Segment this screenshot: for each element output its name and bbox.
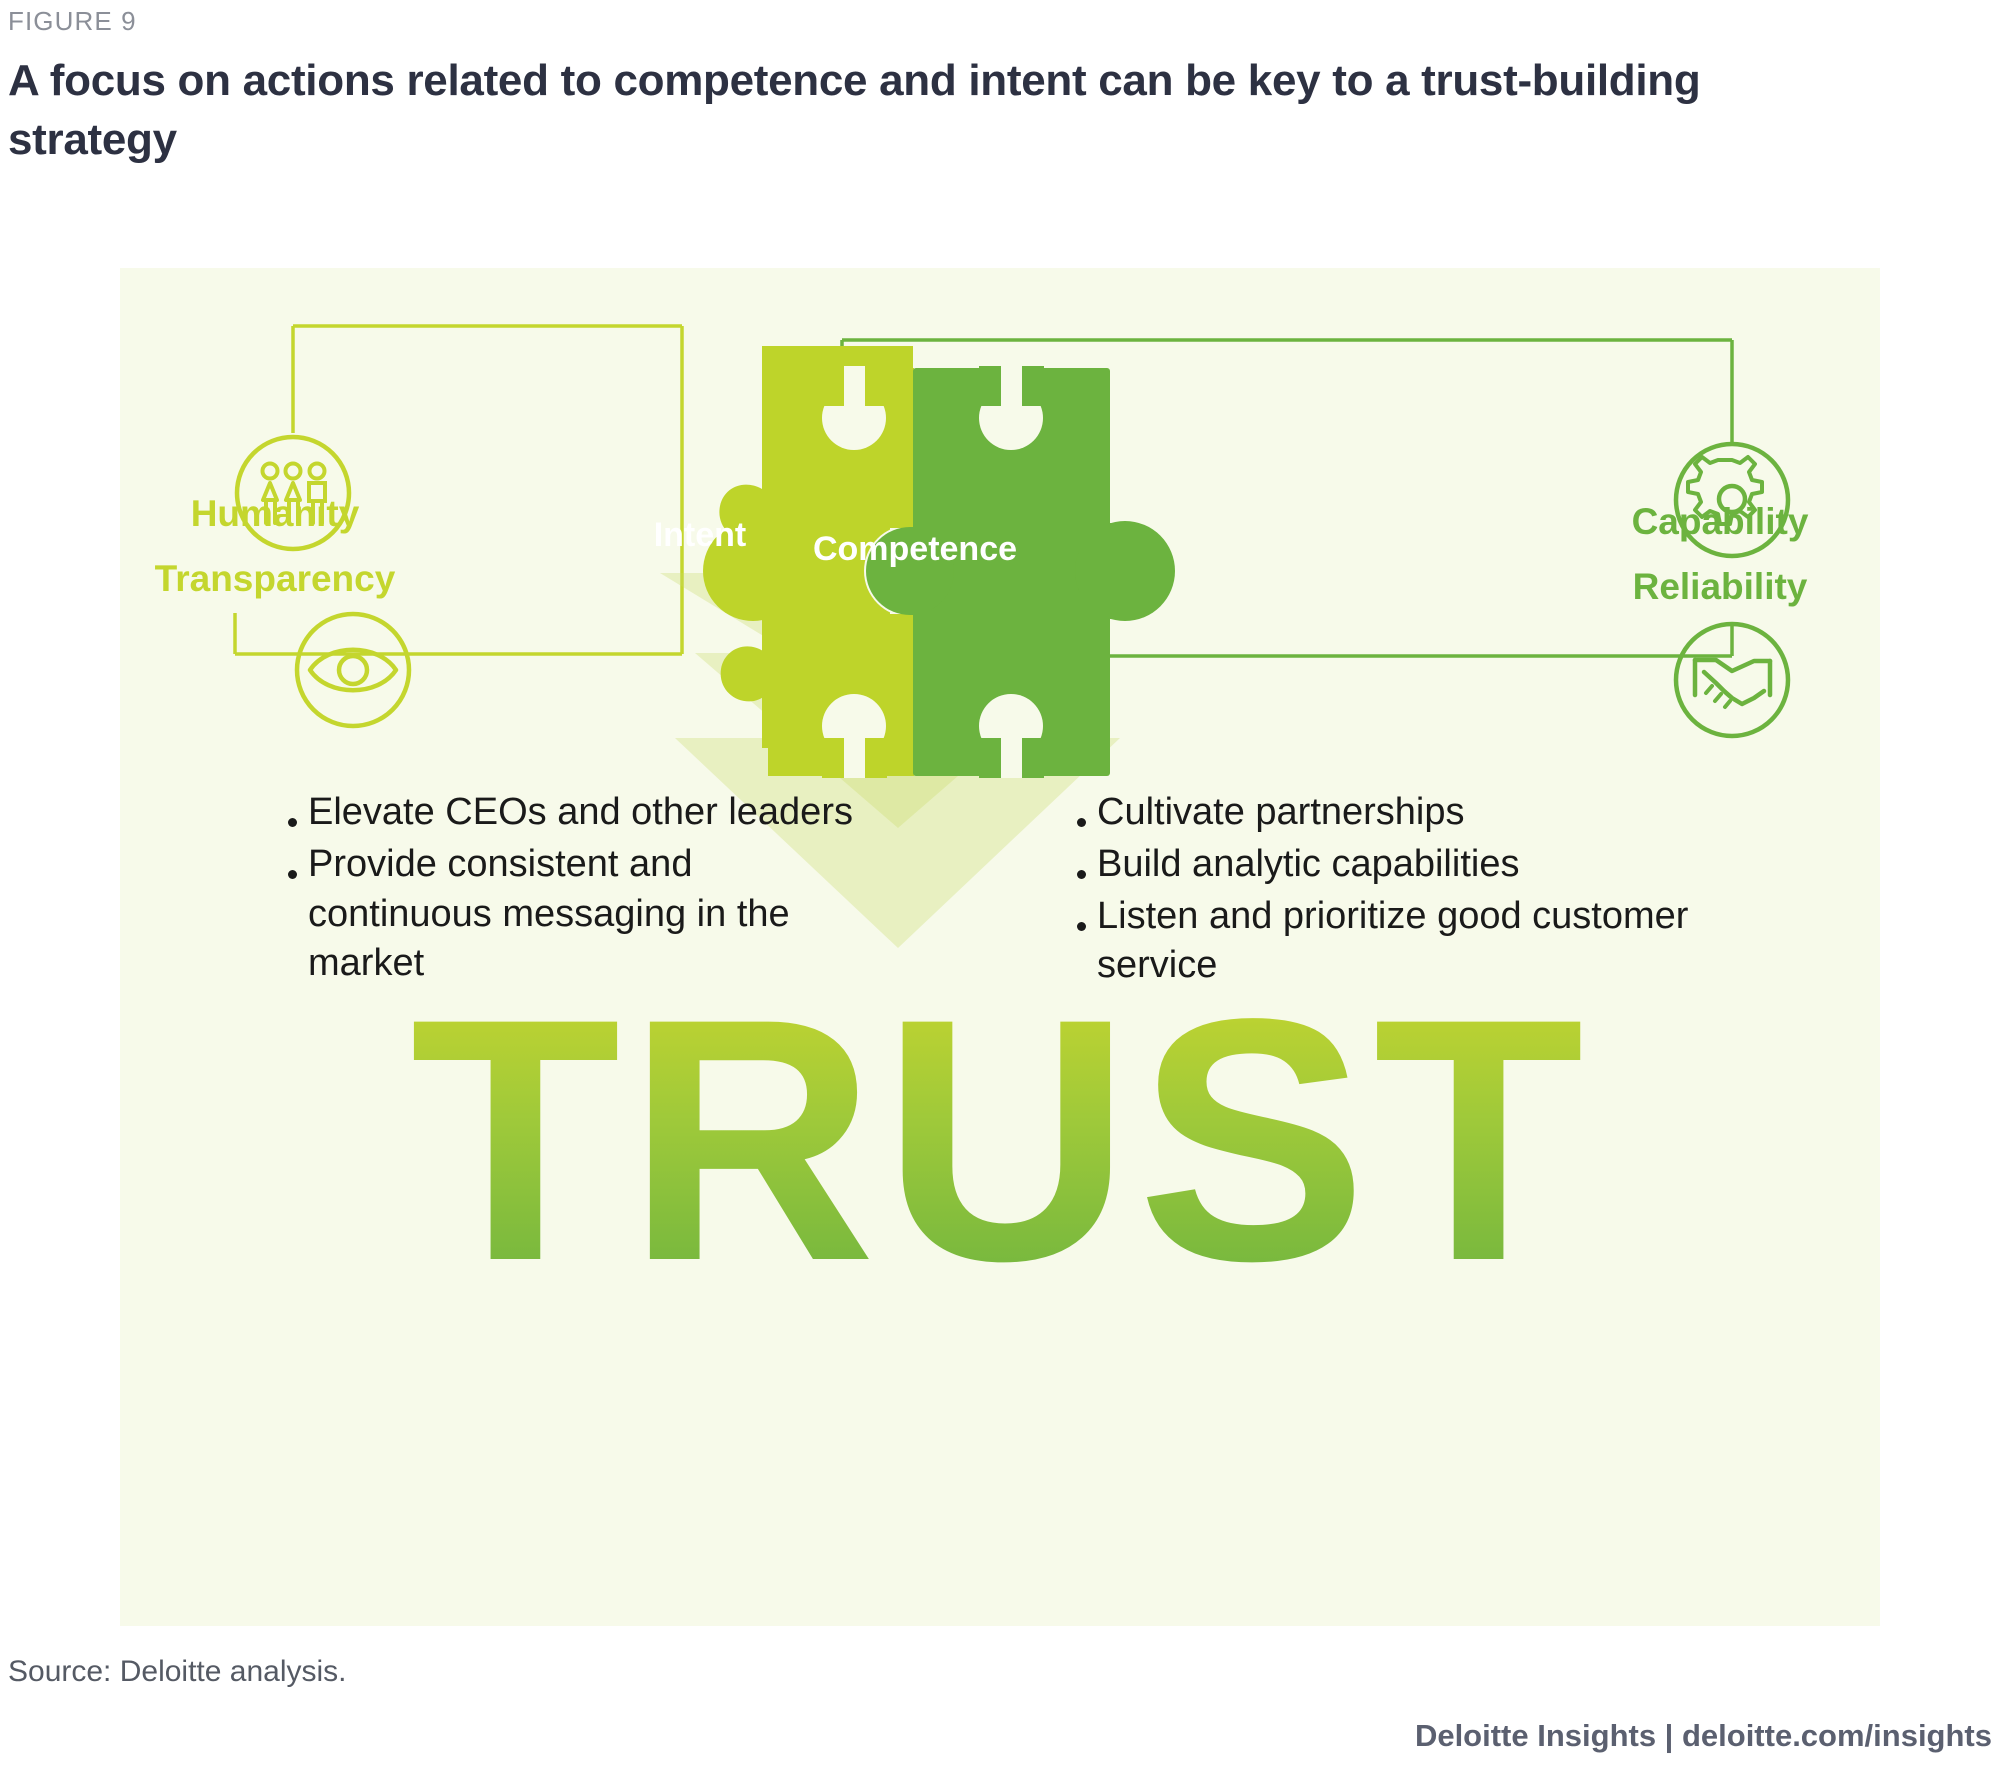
list-item: Build analytic capabilities — [1075, 840, 1815, 890]
puzzle-assembly — [703, 366, 1175, 778]
figure-label: FIGURE 9 — [8, 6, 137, 37]
list-item: Cultivate partnerships — [1075, 788, 1815, 838]
connector-left — [235, 326, 682, 654]
pillar-label-capability: Capability — [1580, 501, 1860, 543]
diagram-panel: Humanity Transparency Capability Reliabi… — [120, 268, 1880, 1626]
eye-icon — [297, 614, 409, 726]
brand-note: Deloitte Insights | deloitte.com/insight… — [1415, 1718, 1992, 1754]
page-title: A focus on actions related to competence… — [8, 52, 1708, 169]
pillar-label-reliability: Reliability — [1585, 566, 1855, 608]
outcome-wordmark: TRUST — [120, 968, 1880, 1313]
pillar-label-humanity: Humanity — [140, 493, 410, 535]
list-item: Elevate CEOs and other leaders — [286, 788, 876, 838]
puzzle-label-intent: Intent — [620, 516, 780, 555]
source-note: Source: Deloitte analysis. — [8, 1655, 347, 1689]
pillar-label-transparency: Transparency — [125, 558, 425, 600]
puzzle-label-competence: Competence — [770, 530, 1060, 569]
